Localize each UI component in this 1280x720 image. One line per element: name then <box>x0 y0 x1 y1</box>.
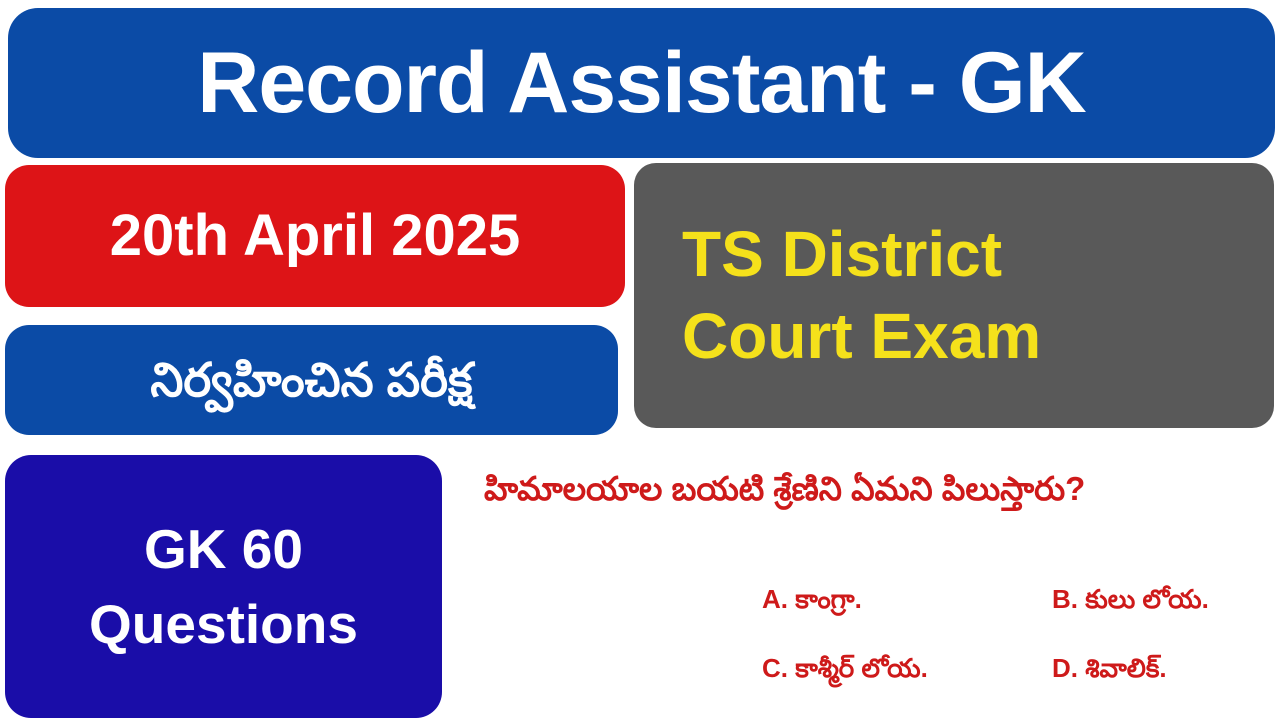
page-title: Record Assistant - GK <box>197 40 1086 126</box>
option-d[interactable]: D. శివాలిక్. <box>1052 653 1274 684</box>
option-c[interactable]: C. కాశ్మీర్ లోయ. <box>762 653 1052 684</box>
question-text: హిమాలయాల బయటి శ్రేణిని ఏమని పిలుస్తారు? <box>484 466 1214 513</box>
gk-question-count-box: GK 60 Questions <box>5 455 442 718</box>
option-a[interactable]: A. కాంగ్రా. <box>762 584 1052 615</box>
subtitle-badge: నిర్వహించిన పరీక్ష <box>5 325 618 435</box>
title-banner: Record Assistant - GK <box>8 8 1275 158</box>
options-grid: A. కాంగ్రా. B. కులు లోయ. C. కాశ్మీర్ లోయ… <box>762 584 1274 684</box>
exam-name-line-1: TS District <box>682 214 1002 296</box>
gk-count-line-2: Questions <box>89 587 358 661</box>
date-label: 20th April 2025 <box>110 207 520 265</box>
subtitle-label: నిర్వహించిన పరీక్ష <box>150 353 472 407</box>
exam-name-panel: TS District Court Exam <box>634 163 1274 428</box>
exam-name-line-2: Court Exam <box>682 296 1041 378</box>
quiz-slide: Record Assistant - GK 20th April 2025 ని… <box>0 0 1280 720</box>
gk-count-line-1: GK 60 <box>144 512 303 586</box>
option-b[interactable]: B. కులు లోయ. <box>1052 584 1274 615</box>
question-area: హిమాలయాల బయటి శ్రేణిని ఏమని పిలుస్తారు? … <box>484 466 1274 716</box>
date-badge: 20th April 2025 <box>5 165 625 307</box>
